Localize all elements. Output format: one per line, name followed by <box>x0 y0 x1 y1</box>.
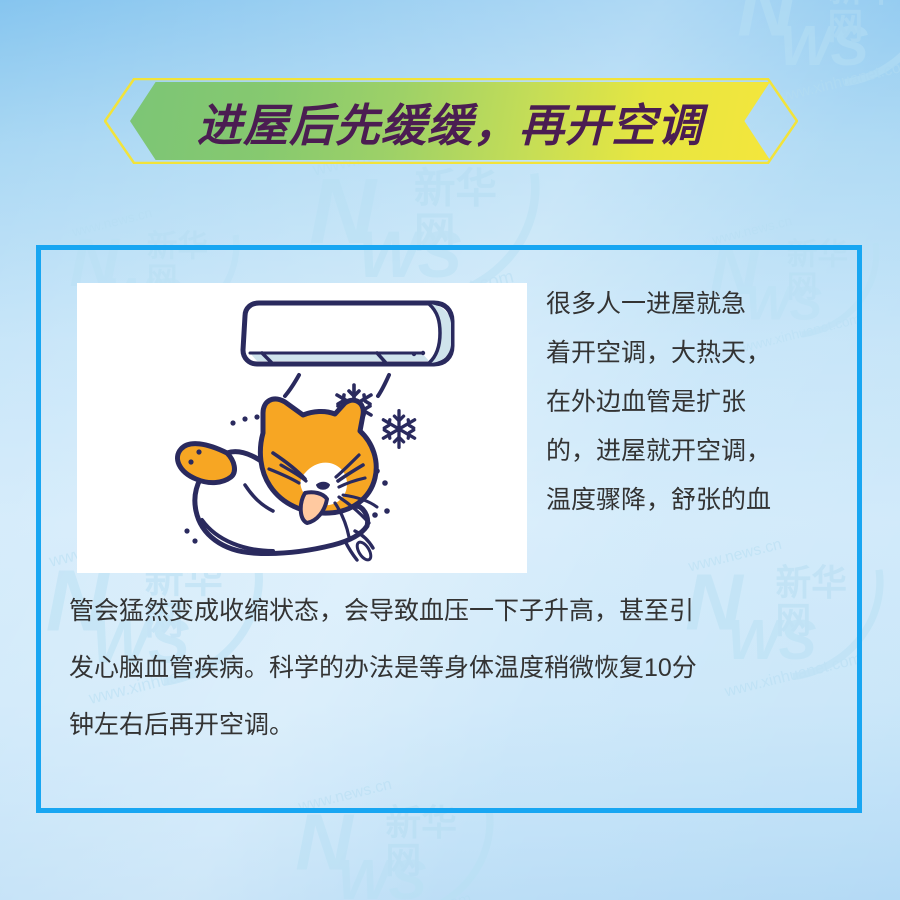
watermark-swoosh-icon <box>832 0 900 86</box>
air-conditioner-icon <box>243 303 452 364</box>
text-line: 的，进屋就开空调， <box>546 427 846 476</box>
content-card: 很多人一进屋就急 着开空调，大热天， 在外边血管是扩张 的，进屋就开空调， 温度… <box>41 250 857 808</box>
text-line: 着开空调，大热天， <box>546 329 846 378</box>
watermark-brand-cn: 新华网 <box>414 169 512 256</box>
intro-text-column: 很多人一进屋就急 着开空调，大热天， 在外边血管是扩张 的，进屋就开空调， 温度… <box>546 280 846 525</box>
text-line: 管会猛然变成收缩状态，会导致血压一下子升高，甚至引 <box>69 583 849 640</box>
cat-icon <box>177 399 389 562</box>
watermark-url: www.xinhuanet.com <box>333 890 473 900</box>
page-title: 进屋后先缓缓，再开空调 <box>130 82 770 160</box>
title-banner: 进屋后先缓缓，再开空调 <box>0 78 900 164</box>
text-line: 很多人一进屋就急 <box>546 280 846 329</box>
cat-sneezing-under-air-conditioner-illustration <box>77 283 527 573</box>
illustration-panel <box>77 283 527 573</box>
body-paragraph: 管会猛然变成收缩状态，会导致血压一下子升高，甚至引 发心脑血管疾病。科学的办法是… <box>69 583 849 754</box>
infographic-page: www.news.cn N WS 新华网 www.xinhuanet.com w… <box>0 0 900 900</box>
watermark-letters-ws: WS <box>337 852 424 900</box>
text-line: 温度骤降，舒张的血 <box>546 476 846 525</box>
watermark-url-short: www.news.cn <box>71 205 154 240</box>
text-line: 发心脑血管疾病。科学的办法是等身体温度稍微恢复10分 <box>69 640 849 697</box>
watermark-brand-cn: 新华网 <box>828 0 900 46</box>
text-line: 钟左右后再开空调。 <box>69 697 849 754</box>
watermark-letters-ws: WS <box>779 18 866 75</box>
watermark-brand-cn: 新华网 <box>386 805 470 880</box>
watermark-letter-n: N <box>737 0 790 49</box>
watermark-letter-n: N <box>295 803 348 883</box>
watermark-url-short: www.news.cn <box>711 213 794 248</box>
cold-air-streaks-icon <box>285 375 389 396</box>
watermark-logo: N WS 新华网 www.xinhuanet.com <box>737 0 900 89</box>
watermark-xinhua: N WS 新华网 www.xinhuanet.com <box>737 0 900 89</box>
text-line: 在外边血管是扩张 <box>546 378 846 427</box>
watermark-swoosh-icon <box>390 809 507 900</box>
